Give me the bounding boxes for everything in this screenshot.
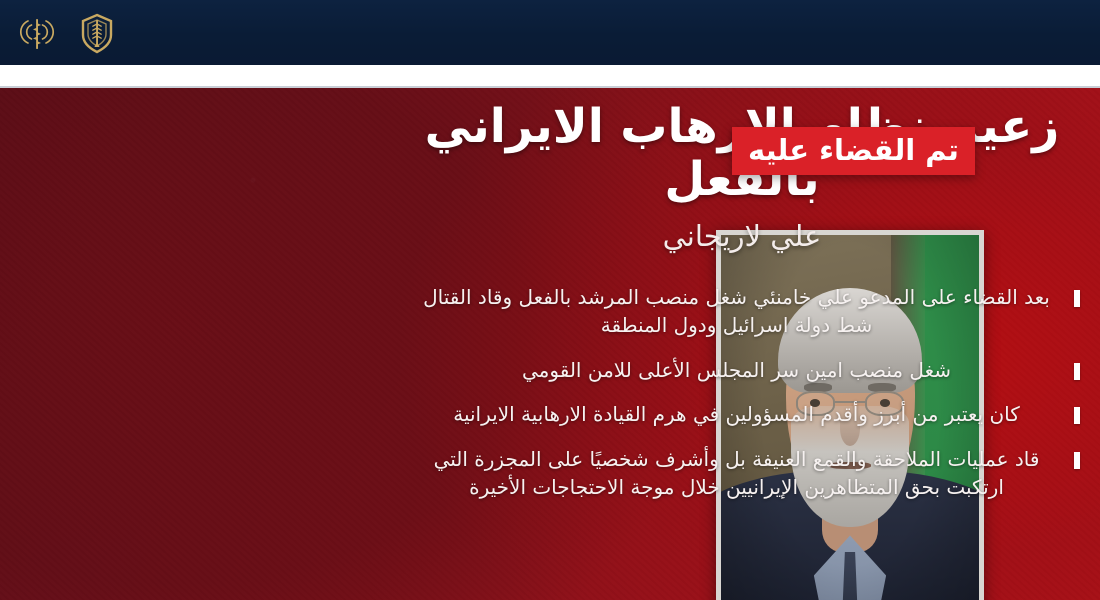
bullet-marker-icon bbox=[1074, 290, 1080, 307]
bullet-list: بعد القضاء على المدعو علي خامنئي شغل منص… bbox=[404, 283, 1080, 501]
list-item: قاد عمليات الملاحقة والقمع العنيفة بل وأ… bbox=[404, 445, 1080, 502]
bullet-marker-icon bbox=[1074, 407, 1080, 424]
status-badge: تم القضاء عليه bbox=[732, 127, 975, 175]
list-item: كان يعتبر من أبرز وأقدم المسؤولين في هرم… bbox=[404, 400, 1080, 428]
bullet-text: قاد عمليات الملاحقة والقمع العنيفة بل وأ… bbox=[404, 445, 1065, 502]
idf-emblem-icon bbox=[74, 9, 120, 57]
bullet-text: شغل منصب امين سر المجلس الأعلى للامن الق… bbox=[404, 356, 1065, 384]
list-item: بعد القضاء على المدعو علي خامنئي شغل منص… bbox=[404, 283, 1080, 340]
broadcast-antenna-icon bbox=[14, 9, 60, 57]
header-divider-strip bbox=[0, 65, 1100, 88]
bullet-marker-icon bbox=[1074, 452, 1080, 469]
list-item: شغل منصب امين سر المجلس الأعلى للامن الق… bbox=[404, 356, 1080, 384]
bullet-text: بعد القضاء على المدعو علي خامنئي شغل منص… bbox=[404, 283, 1065, 340]
bullet-text: كان يعتبر من أبرز وأقدم المسؤولين في هرم… bbox=[404, 400, 1065, 428]
infographic-poster: زعيم نظام الارهاب الايراني بالفعل علي لا… bbox=[0, 0, 1100, 600]
person-name: علي لاريجاني bbox=[404, 219, 1080, 254]
header-bar bbox=[0, 0, 1100, 65]
bullet-marker-icon bbox=[1074, 363, 1080, 380]
